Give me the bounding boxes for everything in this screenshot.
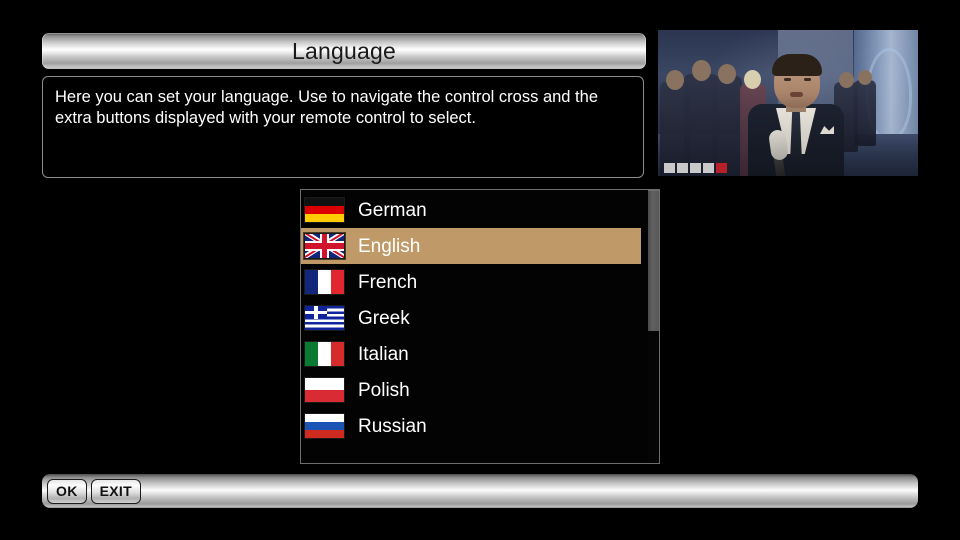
preview-anchor-eye [784, 78, 791, 81]
list-item[interactable]: Greek [301, 300, 645, 336]
channel-watermark-icon [664, 162, 742, 174]
flag-greece-icon [304, 305, 345, 331]
language-list-panel[interactable]: German English French [300, 189, 660, 464]
list-item[interactable]: Russian [301, 408, 645, 444]
flag-italy-icon [304, 341, 345, 367]
flag-russia-icon [304, 413, 345, 439]
preview-anchor-hair [772, 54, 822, 76]
flag-poland-icon [304, 377, 345, 403]
tv-osd-screen: Language Here you can set your language.… [0, 0, 960, 540]
preview-crowd-head [839, 72, 854, 88]
osd-title-bar: Language [42, 33, 646, 69]
preview-crowd-figure [854, 80, 876, 146]
list-item[interactable]: Polish [301, 372, 645, 408]
list-item[interactable]: English [301, 228, 641, 264]
exit-button-label: EXIT [100, 484, 132, 498]
list-item-label: Greek [358, 309, 410, 328]
watermark-block [690, 163, 701, 173]
bottom-softkey-bar: OK EXIT [42, 474, 918, 508]
preview-crowd-head [692, 60, 711, 81]
list-item-label: Italian [358, 345, 409, 364]
preview-crowd-head [666, 70, 684, 90]
preview-crowd-head [858, 70, 872, 85]
exit-button[interactable]: EXIT [91, 479, 141, 504]
ok-button-label: OK [56, 484, 78, 498]
language-list-items: German English French [301, 192, 645, 444]
watermark-block [664, 163, 675, 173]
preview-letterbox [658, 176, 918, 180]
flag-germany-icon [304, 197, 345, 223]
preview-anchor-mouth [790, 92, 803, 97]
list-item-label: English [358, 237, 420, 256]
flag-france-icon [304, 269, 345, 295]
preview-crowd-head [744, 70, 761, 89]
page-title: Language [292, 40, 396, 63]
preview-anchor-eye [804, 78, 811, 81]
list-item-label: Polish [358, 381, 410, 400]
list-item[interactable]: Italian [301, 336, 645, 372]
language-list-scrollbar[interactable] [648, 190, 659, 462]
list-item[interactable]: German [301, 192, 645, 228]
preview-crowd-head [718, 64, 736, 84]
ok-button[interactable]: OK [47, 479, 87, 504]
list-item-label: French [358, 273, 417, 292]
watermark-block [703, 163, 714, 173]
watermark-block [677, 163, 688, 173]
scrollbar-thumb[interactable] [648, 190, 659, 331]
live-tv-preview[interactable] [658, 30, 918, 180]
flag-united-kingdom-icon [304, 233, 345, 259]
help-description-text: Here you can set your language. Use to n… [55, 87, 631, 129]
watermark-block [716, 163, 727, 173]
list-item[interactable]: French [301, 264, 645, 300]
list-item-label: German [358, 201, 427, 220]
help-description-box: Here you can set your language. Use to n… [42, 76, 644, 178]
list-item-label: Russian [358, 417, 427, 436]
